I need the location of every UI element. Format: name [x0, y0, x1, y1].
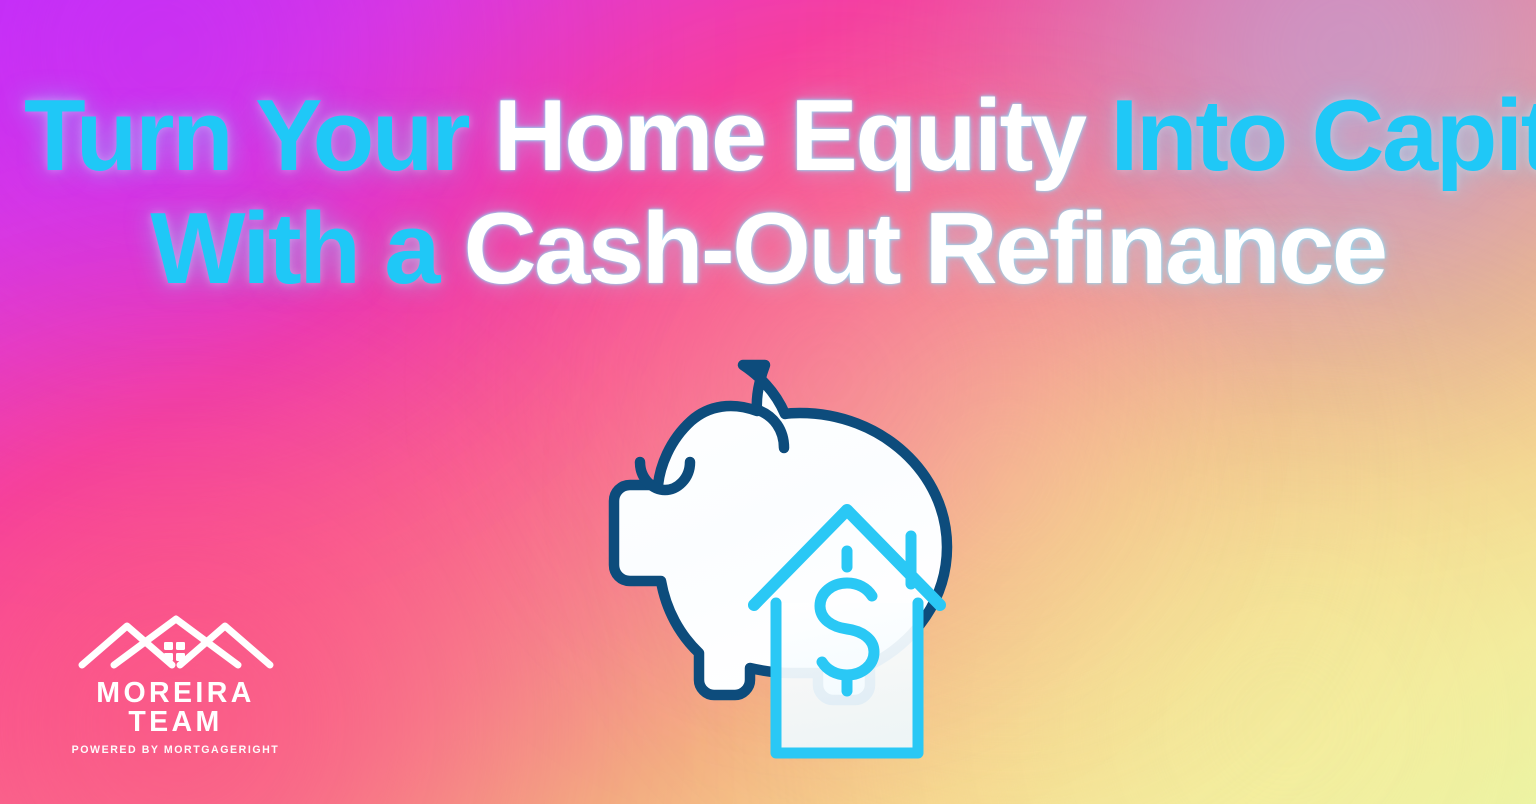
headline: Turn Your Home Equity Into Capital With …: [0, 86, 1536, 300]
headline-line-2: With a Cash-Out Refinance: [24, 199, 1512, 300]
headline-segment-cyan: Into Capital: [1110, 80, 1536, 192]
window-panes: [164, 642, 185, 661]
marketing-banner: Turn Your Home Equity Into Capital With …: [0, 0, 1536, 804]
logo-company-name: MOREIRA TEAM: [58, 679, 293, 736]
headline-segment-white: Cash-Out Refinance: [464, 193, 1386, 305]
brand-logo[interactable]: MOREIRA TEAM POWERED BY MORTGAGERIGHT: [58, 615, 293, 756]
headline-line-1: Turn Your Home Equity Into Capital: [24, 86, 1512, 187]
headline-segment-white: Home Equity: [494, 80, 1111, 192]
headline-segment-cyan: Turn Your: [24, 80, 494, 192]
piggy-bank-with-house-icon: [540, 348, 1010, 768]
headline-segment-cyan: With a: [150, 193, 463, 305]
mountain-roof-house-icon: [76, 615, 276, 671]
logo-tagline: POWERED BY MORTGAGERIGHT: [58, 745, 293, 756]
